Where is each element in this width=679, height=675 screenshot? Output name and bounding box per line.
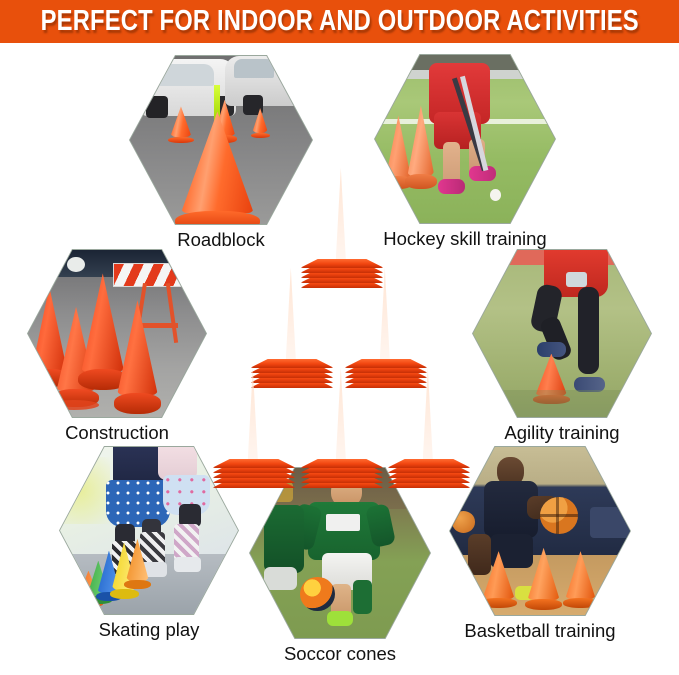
tile-caption-skating: Skating play xyxy=(60,620,238,639)
tile-caption-soccer: Soccor cones xyxy=(250,644,430,663)
cone-pyramid xyxy=(215,163,465,483)
cone-bottom-1 xyxy=(215,363,293,488)
hex-photo-basketball xyxy=(450,447,630,615)
tile-agility-training[interactable]: Agility training xyxy=(473,250,651,417)
hex-photo-agility xyxy=(473,250,651,417)
tile-caption-basketball: Basketball training xyxy=(450,621,630,640)
hex-photo-soccer xyxy=(250,468,430,638)
cone-bottom-2 xyxy=(303,363,381,488)
cone-bottom-3 xyxy=(390,363,468,488)
tile-basketball-training[interactable]: Basketball training xyxy=(450,447,630,615)
hex-photo-construction xyxy=(28,250,206,417)
header-banner: PERFECT FOR INDOOR AND OUTDOOR ACTIVITIE… xyxy=(0,0,679,43)
banner-title: PERFECT FOR INDOOR AND OUTDOOR ACTIVITIE… xyxy=(40,7,638,36)
tile-caption-construction: Construction xyxy=(28,423,206,442)
collage-stage: Roadblock xyxy=(0,43,679,675)
tile-caption-agility: Agility training xyxy=(473,423,651,442)
tile-soccor-cones[interactable]: Soccor cones xyxy=(250,468,430,638)
tile-construction[interactable]: Construction xyxy=(28,250,206,417)
